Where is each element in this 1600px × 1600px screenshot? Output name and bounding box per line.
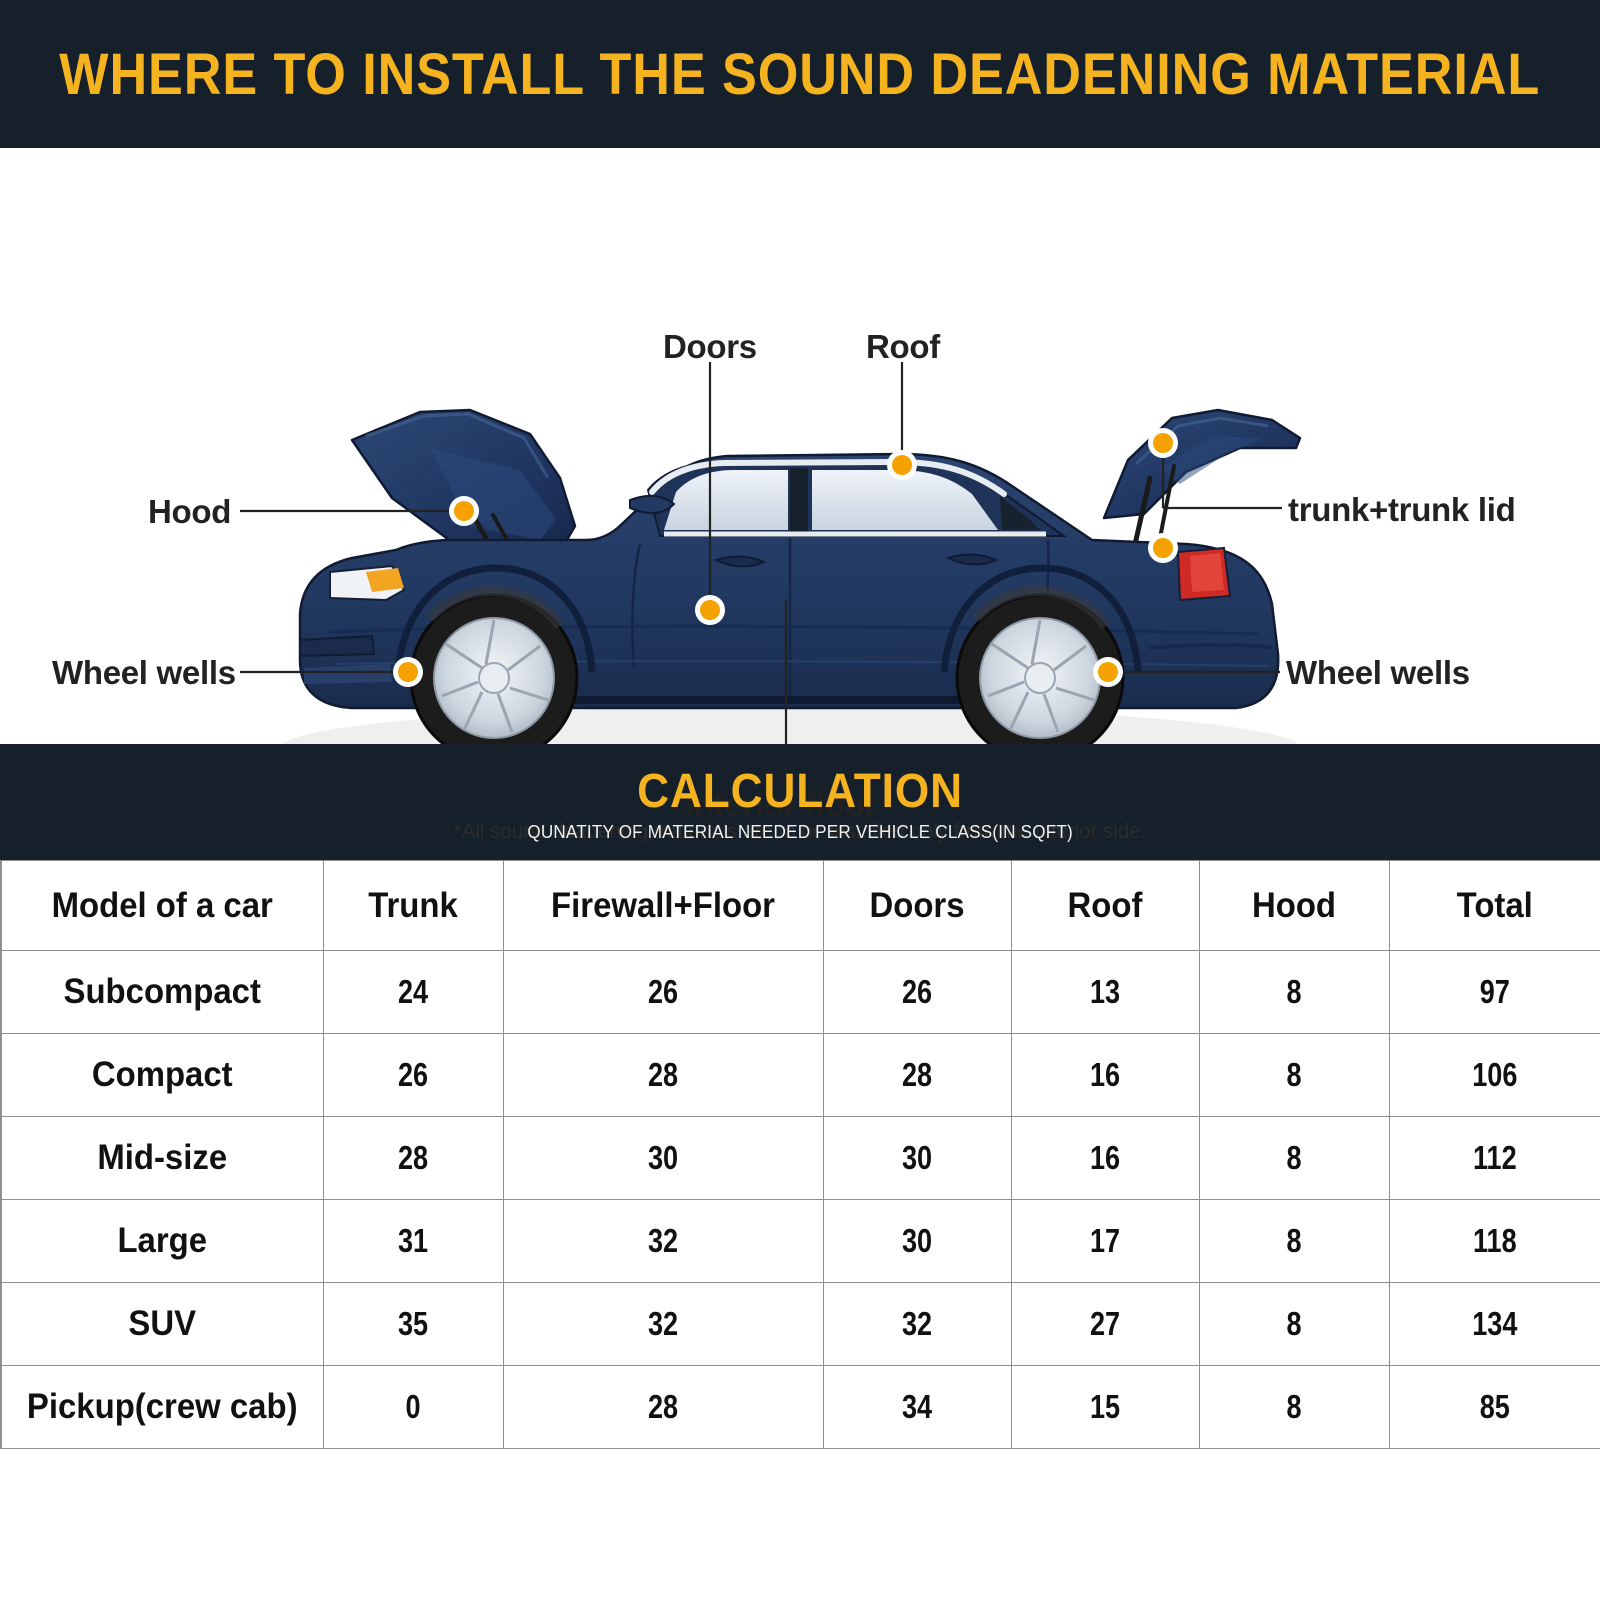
label-trunk: trunk+trunk lid [1288,491,1515,529]
marker-doors [695,595,725,625]
table-row: Compact262828168106 [1,1034,1600,1117]
cell-trunk: 31 [339,1200,487,1283]
cell-total: 106 [1408,1034,1582,1117]
front-bumper-vent [300,636,374,656]
cell-hood: 8 [1216,1283,1372,1366]
column-header-doors: Doors [829,861,1006,951]
cell-firewall_floor: 30 [532,1117,794,1200]
turn-signal [366,568,404,592]
cell-trunk: 28 [339,1117,487,1200]
cell-firewall_floor: 28 [532,1034,794,1117]
top-banner: WHERE TO INSTALL THE SOUND DEADENING MAT… [0,0,1600,148]
cell-hood: 8 [1216,951,1372,1034]
marker-roof [887,450,917,480]
column-header-trunk: Trunk [328,861,497,951]
column-header-total: Total [1395,861,1594,951]
cell-hood: 8 [1216,1034,1372,1117]
cell-roof: 16 [1028,1034,1182,1117]
cell-doors: 30 [840,1117,994,1200]
cell-model: Large [11,1200,314,1283]
cell-doors: 26 [840,951,994,1034]
cell-roof: 15 [1028,1366,1182,1449]
column-header-model-of-a-car: Model of a car [11,861,314,951]
cell-model: SUV [11,1283,314,1366]
table-row: SUV353232278134 [1,1283,1600,1366]
cell-trunk: 24 [339,951,487,1034]
cell-trunk: 26 [339,1034,487,1117]
cell-doors: 34 [840,1366,994,1449]
table-row: Large313230178118 [1,1200,1600,1283]
cell-doors: 30 [840,1200,994,1283]
page-title: WHERE TO INSTALL THE SOUND DEADENING MAT… [60,41,1541,108]
column-header-firewall-floor: Firewall+Floor [513,861,814,951]
cell-total: 97 [1408,951,1582,1034]
column-header-hood: Hood [1205,861,1384,951]
marker-wheel-well-front [393,657,423,687]
label-roof: Roof [866,328,940,366]
cell-hood: 8 [1216,1200,1372,1283]
calculation-table: Model of a carTrunkFirewall+FloorDoorsRo… [0,860,1600,1449]
b-pillar [790,468,808,532]
calculation-subtitle: QUNATITY OF MATERIAL NEEDED PER VEHICLE … [527,822,1073,843]
cell-firewall_floor: 32 [532,1283,794,1366]
cell-model: Subcompact [11,951,314,1034]
cell-model: Mid-size [11,1117,314,1200]
label-doors: Doors [663,328,757,366]
cell-firewall_floor: 32 [532,1200,794,1283]
cell-roof: 27 [1028,1283,1182,1366]
cell-total: 118 [1408,1200,1582,1283]
cell-model: Pickup(crew cab) [11,1366,314,1449]
table-row: Mid-size283030168112 [1,1117,1600,1200]
table-row: Subcompact24262613897 [1,951,1600,1034]
cell-doors: 28 [840,1034,994,1117]
cell-trunk: 35 [339,1283,487,1366]
column-header-roof: Roof [1017,861,1194,951]
car-diagram-section: Doors Roof Hood trunk+trunk lid Wheel we… [0,148,1600,744]
cell-roof: 16 [1028,1117,1182,1200]
label-wheel-wells-right: Wheel wells [1286,654,1470,692]
table-header-row: Model of a carTrunkFirewall+FloorDoorsRo… [1,861,1600,951]
marker-wheel-well-rear [1093,657,1123,687]
cell-trunk: 0 [339,1366,487,1449]
marker-trunk-lid [1148,428,1178,458]
cell-model: Compact [11,1034,314,1117]
trunk-lid-open [1104,410,1300,540]
cell-roof: 13 [1028,951,1182,1034]
label-wheel-wells-left: Wheel wells [52,654,236,692]
cell-hood: 8 [1216,1117,1372,1200]
cell-total: 85 [1408,1366,1582,1449]
cell-hood: 8 [1216,1366,1372,1449]
front-wheel [410,591,578,744]
label-hood: Hood [148,493,231,531]
cell-roof: 17 [1028,1200,1182,1283]
cell-doors: 32 [840,1283,994,1366]
calculation-title: CALCULATION [637,767,963,817]
cell-total: 112 [1408,1117,1582,1200]
marker-trunk [1148,533,1178,563]
cell-firewall_floor: 26 [532,951,794,1034]
table-row: Pickup(crew cab)0283415885 [1,1366,1600,1449]
marker-hood [449,496,479,526]
cell-firewall_floor: 28 [532,1366,794,1449]
cell-total: 134 [1408,1283,1582,1366]
